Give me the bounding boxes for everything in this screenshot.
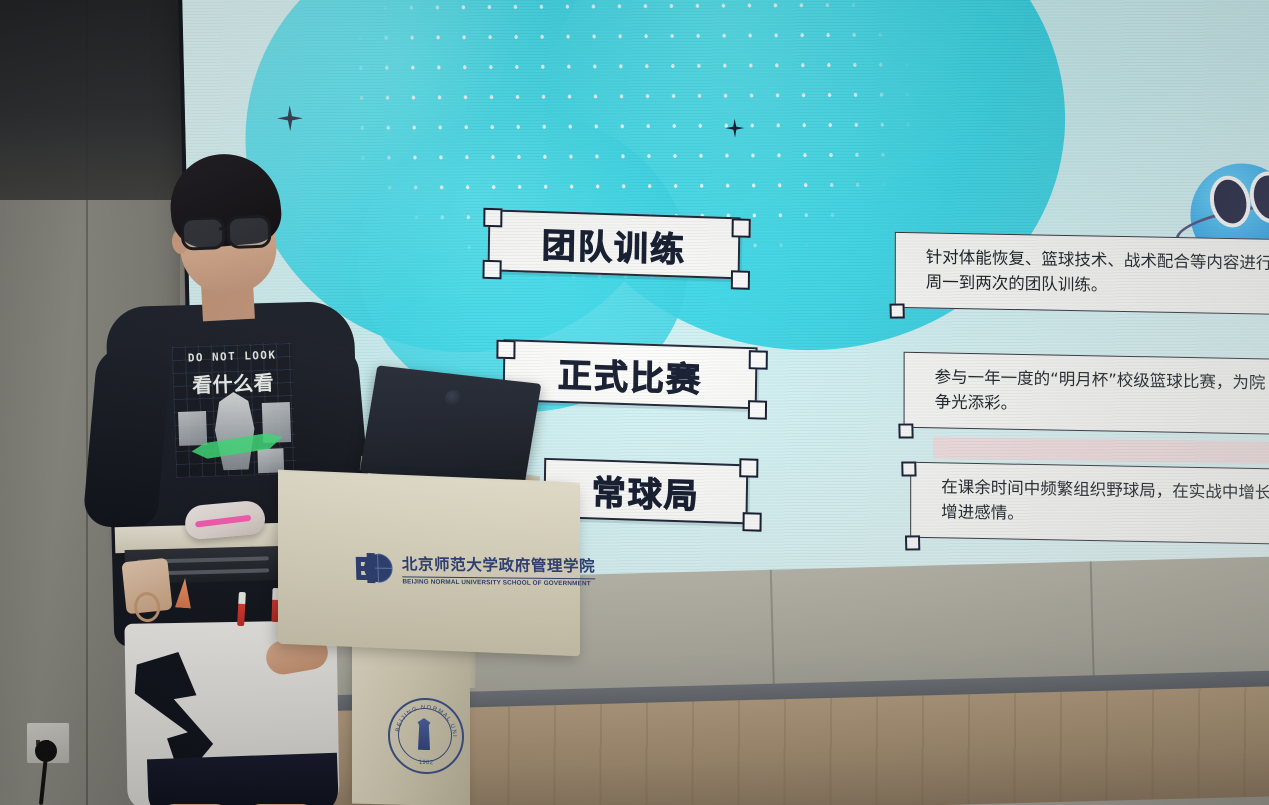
selection-handle[interactable] xyxy=(482,260,501,280)
body-line-2: 增进感情。 xyxy=(941,502,1024,523)
presenter-glasses xyxy=(181,214,276,247)
bnu-emblem-icon xyxy=(351,547,394,589)
podium-university-seal: BEIJING NORMAL UNIVERSITY 1902 xyxy=(388,697,464,775)
selection-handle[interactable] xyxy=(731,270,750,290)
screenshot-scene: 团队训练 正式比赛 常球局 针对体能恢复、篮球技术、战术配合等内容进行每 周一到 xyxy=(0,0,1269,805)
selection-handle[interactable] xyxy=(749,350,768,370)
selection-handle[interactable] xyxy=(742,512,761,532)
body-line-2: 周一到两次的团队训练。 xyxy=(926,272,1108,294)
tshirt-english-text: DO NOT LOOK xyxy=(178,348,286,365)
tshirt-graphic: DO NOT LOOK 看什么看 xyxy=(172,342,297,478)
pouch-bag xyxy=(121,558,172,615)
slide-body-block-2: 参与一年一度的“明月杯”校级篮球比赛，为院 争光添彩。 xyxy=(904,352,1269,437)
tshirt-panel xyxy=(178,411,207,446)
selection-handle[interactable] xyxy=(748,400,767,420)
laptop-logo xyxy=(444,389,463,407)
slide-heading-1-label: 团队训练 xyxy=(542,218,687,272)
slide-body-block-3: 在课余时间中频繁组织野球局，在实战中增长 增进感情。 xyxy=(910,462,1269,547)
shorts-hem xyxy=(147,753,339,805)
selection-handle[interactable] xyxy=(905,535,920,550)
slide-body-block-1: 针对体能恢复、篮球技术、战术配合等内容进行每 周一到两次的团队训练。 xyxy=(895,232,1269,317)
slide-heading-2: 正式比赛 xyxy=(503,339,758,409)
body-line-2: 争光添彩。 xyxy=(935,392,1018,413)
slide-heading-2-label: 正式比赛 xyxy=(558,347,703,401)
selection-handle[interactable] xyxy=(739,458,758,478)
body-line-1: 针对体能恢复、篮球技术、战术配合等内容进行每 xyxy=(926,248,1269,274)
slide-accent-bar xyxy=(933,437,1269,466)
selection-handle[interactable] xyxy=(889,304,904,319)
selection-handle[interactable] xyxy=(901,461,916,476)
slide-heading-1: 团队训练 xyxy=(488,209,741,279)
selection-handle[interactable] xyxy=(496,340,515,360)
body-line-1: 参与一年一度的“明月杯”校级篮球比赛，为院 xyxy=(935,368,1266,393)
presenter-sleeve-left xyxy=(82,345,171,531)
laptop xyxy=(360,365,542,490)
slide-body-block-2-text: 参与一年一度的“明月杯”校级篮球比赛，为院 争光添彩。 xyxy=(935,366,1266,422)
decorative-dot-pattern xyxy=(241,0,1081,364)
body-line-1: 在课余时间中频繁组织野球局，在实战中增长 xyxy=(941,478,1269,503)
slide-heading-3-label: 常球局 xyxy=(591,465,700,517)
podium-logo-text: 北京师范大学政府管理学院 BEIJING NORMAL UNIVERSITY S… xyxy=(402,552,596,587)
selection-handle[interactable] xyxy=(898,423,913,438)
podium-logo-english: BEIJING NORMAL UNIVERSITY SCHOOL OF GOVE… xyxy=(402,578,596,587)
svg-text:BEIJING NORMAL UNIVERSITY: BEIJING NORMAL UNIVERSITY xyxy=(390,699,457,738)
selection-handle[interactable] xyxy=(732,218,751,238)
tshirt-figure-art xyxy=(207,391,262,471)
slide-body-block-1-text: 针对体能恢复、篮球技术、战术配合等内容进行每 周一到两次的团队训练。 xyxy=(926,246,1269,302)
podium-logo-chinese: 北京师范大学政府管理学院 xyxy=(402,552,596,576)
podium-university-logo: 北京师范大学政府管理学院 BEIJING NORMAL UNIVERSITY S… xyxy=(351,543,568,595)
selection-handle[interactable] xyxy=(483,208,502,228)
slide-body-block-3-text: 在课余时间中频繁组织野球局，在实战中增长 增进感情。 xyxy=(941,476,1269,532)
